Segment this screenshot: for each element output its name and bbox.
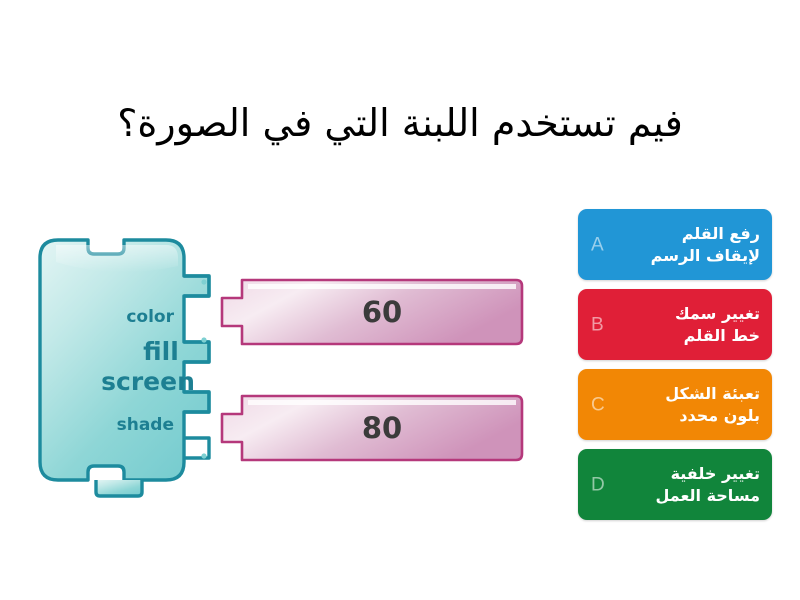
answer-text-a: رفع القلم لإيقاف الرسم <box>651 223 760 266</box>
param2-label: shade <box>117 415 174 435</box>
param1-slot-gloss <box>248 284 516 289</box>
param2-slot-gloss <box>248 400 516 405</box>
answer-text-c: تعبئة الشكل بلون محدد <box>665 383 760 426</box>
param2-input-slot: 80 <box>222 396 522 460</box>
answer-letter-a: A <box>591 235 604 254</box>
answer-letter-c: C <box>591 395 605 414</box>
block-label-line1: fill <box>143 337 179 366</box>
block-outline <box>40 240 209 480</box>
answer-options-list: A رفع القلم لإيقاف الرسم B تغيير سمك خط … <box>578 209 772 520</box>
answer-option-d[interactable]: D تغيير خلفية مساحة العمل <box>578 449 772 520</box>
answer-option-a[interactable]: A رفع القلم لإيقاف الرسم <box>578 209 772 280</box>
param1-label: color <box>126 307 174 327</box>
answer-text-d: تغيير خلفية مساحة العمل <box>655 463 760 506</box>
answer-letter-d: D <box>591 475 605 494</box>
answer-option-b[interactable]: B تغيير سمك خط القلم <box>578 289 772 360</box>
answer-letter-b: B <box>591 315 604 334</box>
answer-text-b: تغيير سمك خط القلم <box>675 303 760 346</box>
param1-input-slot: 60 <box>222 280 522 344</box>
block-bottom-tab <box>96 480 142 496</box>
connector-pegs <box>201 279 206 458</box>
answer-option-c[interactable]: C تعبئة الشكل بلون محدد <box>578 369 772 440</box>
question-bar: فيم تستخدم اللبنة التي في الصورة؟ <box>0 84 800 164</box>
code-block-illustration: color fill screen shade 60 80 <box>26 222 546 512</box>
param1-value: 60 <box>362 295 402 329</box>
page-title: فيم تستخدم اللبنة التي في الصورة؟ <box>117 102 683 146</box>
param2-value: 80 <box>362 411 402 445</box>
block-label-line2: screen <box>101 367 195 396</box>
quiz-screen: فيم تستخدم اللبنة التي في الصورة؟ <box>0 0 800 600</box>
